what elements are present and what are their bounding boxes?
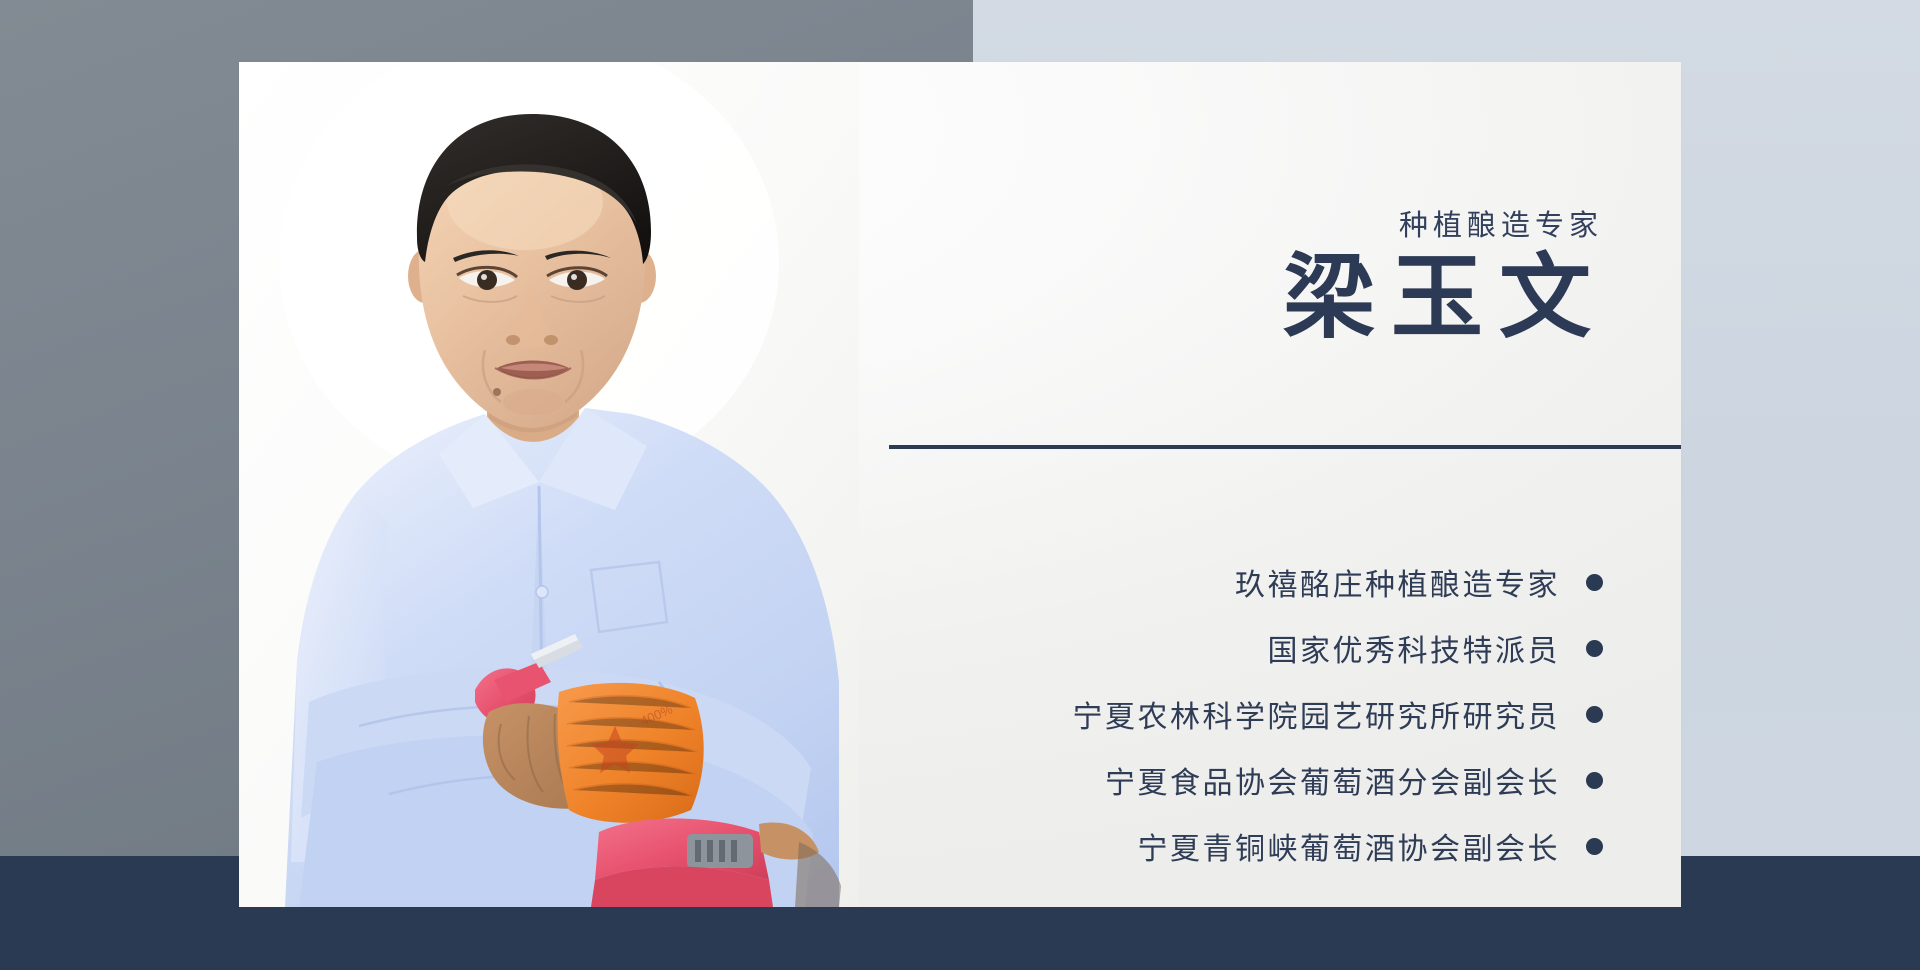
list-item: 宁夏青铜峡葡萄酒协会副会长 [703,813,1603,879]
profile-name: 梁玉文 [1283,252,1607,344]
bullet-dot-icon [1586,772,1603,789]
list-item: 国家优秀科技特派员 [703,615,1603,681]
credential-label: 宁夏青铜峡葡萄酒协会副会长 [1138,824,1561,868]
list-item: 宁夏食品协会葡萄酒分会副会长 [703,747,1603,813]
credential-label: 宁夏农林科学院园艺研究所研究员 [1073,692,1561,736]
profile-eyebrow: 种植酿造专家 [1399,202,1603,244]
credential-label: 玖禧酩庄种植酿造专家 [1235,560,1560,604]
bullet-dot-icon [1586,574,1603,591]
profile-card: 400% [239,62,1681,907]
bullet-dot-icon [1586,838,1603,855]
divider-line [889,445,1681,449]
poster-canvas: 400% [0,0,1920,970]
list-item: 玖禧酩庄种植酿造专家 [703,549,1603,615]
credentials-list: 玖禧酩庄种植酿造专家 国家优秀科技特派员 宁夏农林科学院园艺研究所研究员 宁夏食… [703,549,1603,879]
list-item: 宁夏农林科学院园艺研究所研究员 [703,681,1603,747]
credential-label: 宁夏食品协会葡萄酒分会副会长 [1105,758,1560,802]
bullet-dot-icon [1586,706,1603,723]
credential-label: 国家优秀科技特派员 [1268,626,1561,670]
bullet-dot-icon [1586,640,1603,657]
